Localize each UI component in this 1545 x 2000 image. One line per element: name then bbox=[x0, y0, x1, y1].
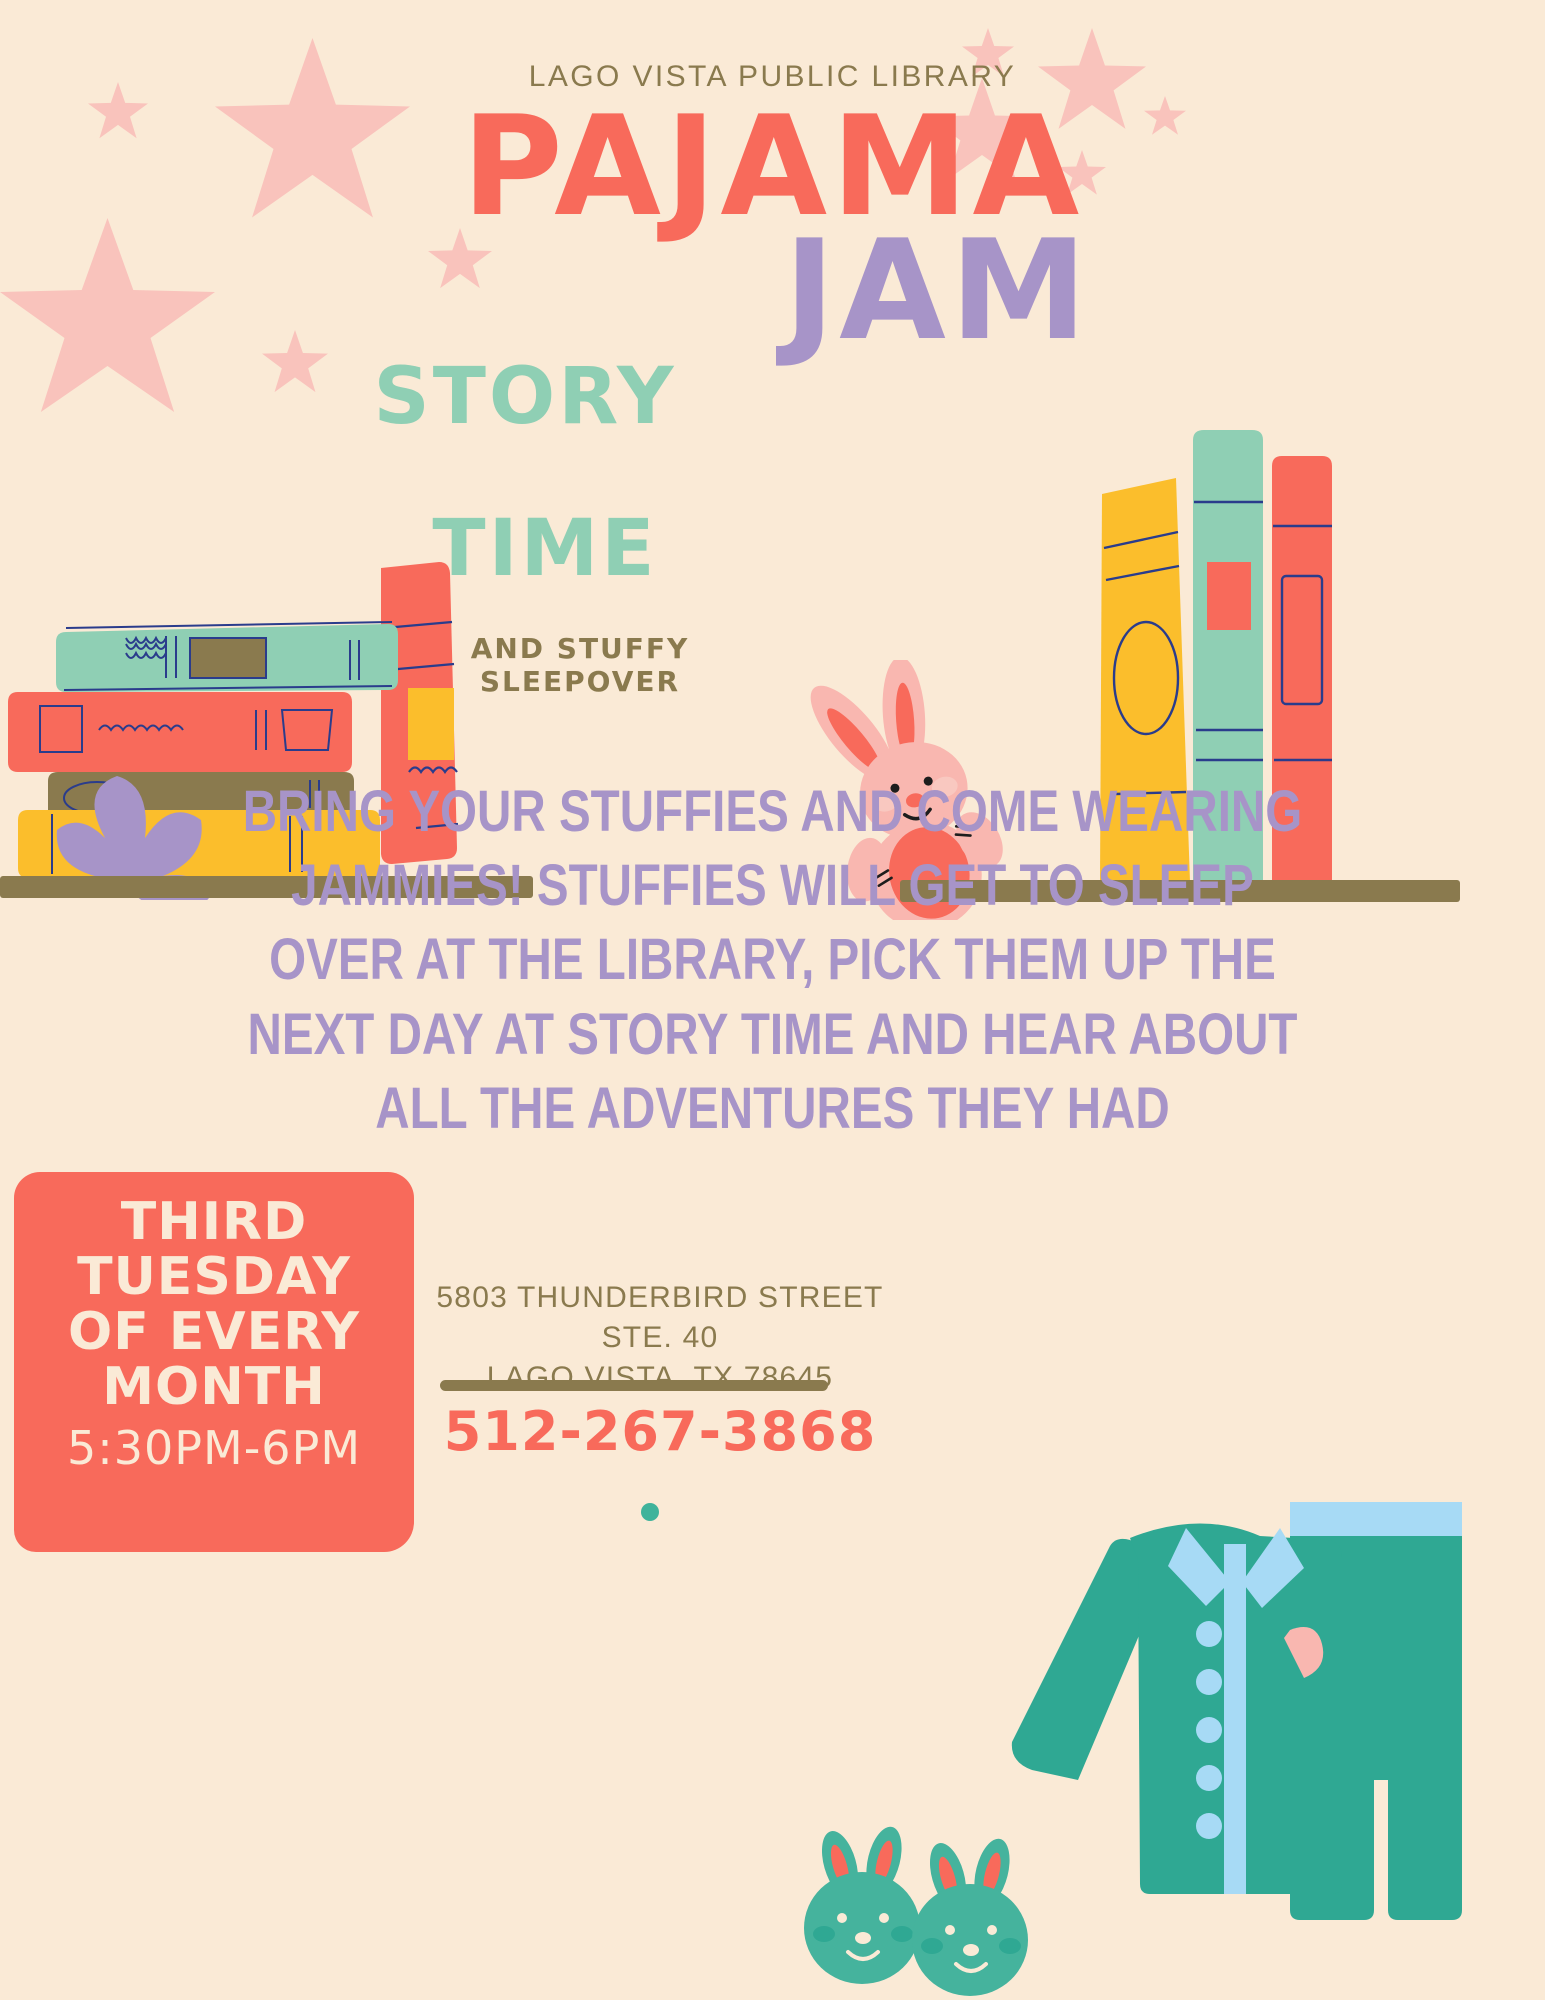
body-line: OVER AT THE LIBRARY, PICK THEM UP THE bbox=[205, 923, 1341, 997]
title-jam: JAM bbox=[0, 222, 1545, 360]
body-line: ALL THE ADVENTURES THEY HAD bbox=[205, 1072, 1341, 1146]
body-paragraph: BRING YOUR STUFFIES AND COME WEARING JAM… bbox=[205, 775, 1341, 1146]
decorative-dot bbox=[641, 1503, 659, 1521]
phone-number: 512-267-3868 bbox=[430, 1400, 890, 1463]
body-line: BRING YOUR STUFFIES AND COME WEARING bbox=[205, 775, 1341, 849]
bunny-slipper-right-icon bbox=[912, 1835, 1028, 1996]
bunny-slipper-left-icon bbox=[804, 1823, 920, 1984]
contact-divider bbox=[440, 1380, 828, 1391]
schedule-line-4: MONTH bbox=[14, 1360, 414, 1415]
pajama-shirt-icon bbox=[1012, 1523, 1342, 1894]
address-line-1: 5803 THUNDERBIRD STREET bbox=[430, 1278, 890, 1318]
title-story: STORY bbox=[360, 358, 690, 436]
pajama-illustration bbox=[990, 1480, 1545, 2000]
body-line: NEXT DAY AT STORY TIME AND HEAR ABOUT bbox=[205, 998, 1341, 1072]
body-line: JAMMIES! STUFFIES WILL GET TO SLEEP bbox=[205, 849, 1341, 923]
poster-canvas: LAGO VISTA PUBLIC LIBRARY PAJAMA JAM STO… bbox=[0, 0, 1545, 2000]
schedule-text: THIRD TUESDAY OF EVERY MONTH 5:30PM-6PM bbox=[14, 1195, 414, 1475]
coral-book-icon bbox=[8, 692, 352, 772]
address-line-3: LAGO VISTA, TX 78645 bbox=[430, 1358, 890, 1398]
mint-book-icon bbox=[56, 622, 398, 692]
schedule-time: 5:30PM-6PM bbox=[14, 1421, 414, 1475]
schedule-line-1: THIRD bbox=[14, 1195, 414, 1250]
title-pajama: PAJAMA bbox=[0, 98, 1545, 236]
schedule-line-3: OF EVERY bbox=[14, 1305, 414, 1360]
bunny-slippers-illustration bbox=[780, 1810, 1040, 2000]
address-line-2: STE. 40 bbox=[430, 1318, 890, 1358]
schedule-line-2: TUESDAY bbox=[14, 1250, 414, 1305]
